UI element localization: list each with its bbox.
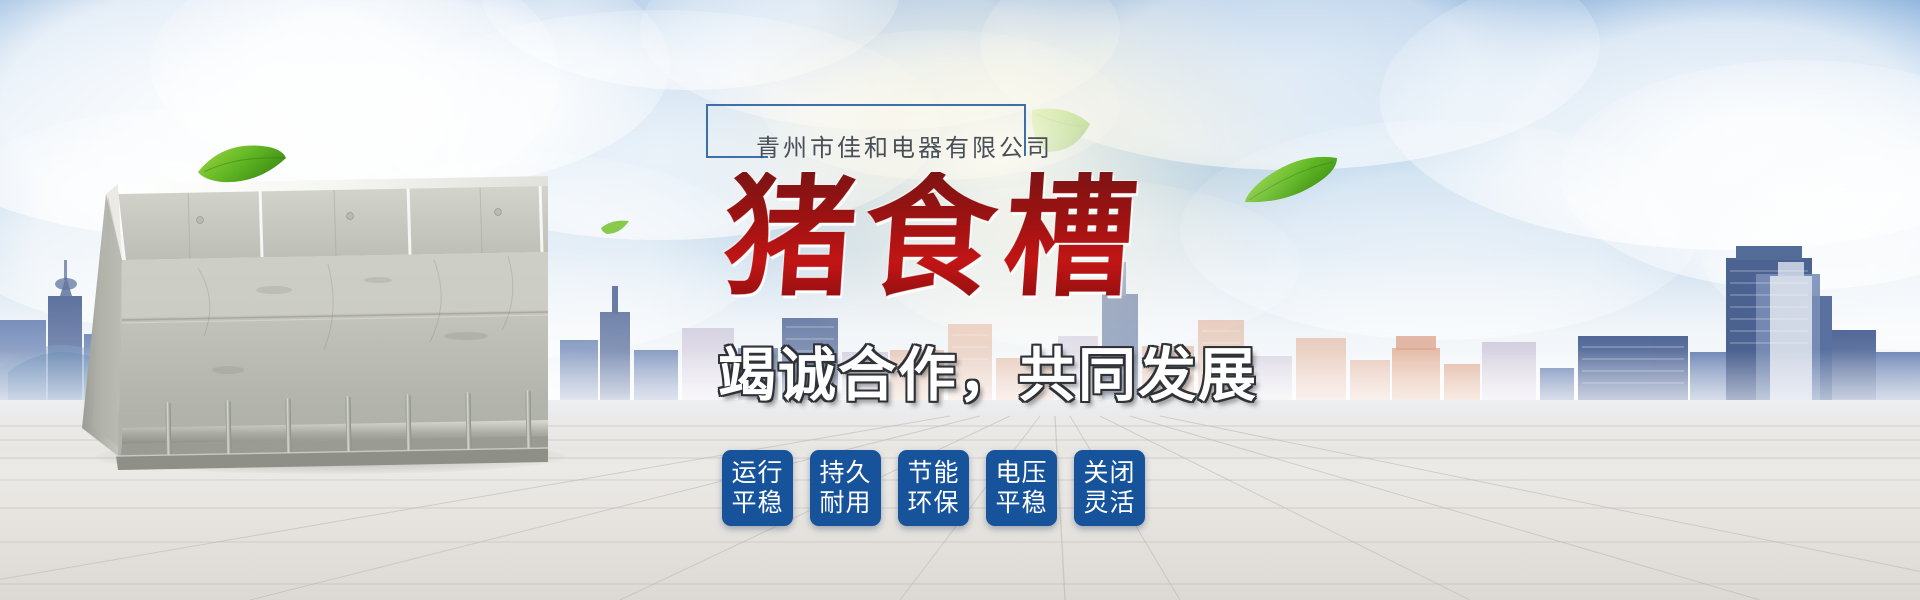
badge-line-1: 电压	[995, 458, 1047, 489]
badge-line-1: 运行	[731, 458, 783, 489]
badge-line-2: 灵活	[1083, 488, 1135, 519]
product-image-pig-feeding-trough	[78, 160, 578, 470]
subtitle-slogan: 竭诚合作，共同发展	[718, 346, 1258, 404]
headline-title: 猪食槽	[719, 172, 1148, 304]
feature-badge[interactable]: 持久 耐用	[810, 450, 881, 526]
badge-line-2: 平稳	[995, 488, 1047, 519]
badge-line-1: 持久	[819, 458, 871, 489]
promo-banner: 青州市佳和电器有限公司 猪食槽 竭诚合作，共同发展 运行 平稳 持久 耐用 节能…	[0, 0, 1920, 600]
feature-badge[interactable]: 关闭 灵活	[1074, 450, 1145, 526]
banner-copy: 青州市佳和电器有限公司 猪食槽 竭诚合作，共同发展 运行 平稳 持久 耐用 节能…	[700, 98, 1400, 558]
badge-line-2: 平稳	[731, 488, 783, 519]
badge-line-2: 环保	[907, 488, 959, 519]
feature-badge[interactable]: 电压 平稳	[986, 450, 1057, 526]
feature-badge[interactable]: 运行 平稳	[722, 450, 793, 526]
company-name: 青州市佳和电器有限公司	[756, 128, 1053, 163]
feature-badge[interactable]: 节能 环保	[898, 450, 969, 526]
badge-line-2: 耐用	[819, 488, 871, 519]
badge-line-1: 关闭	[1083, 458, 1135, 489]
feature-badge-list: 运行 平稳 持久 耐用 节能 环保 电压 平稳 关闭 灵活	[722, 450, 1145, 526]
badge-line-1: 节能	[907, 458, 959, 489]
